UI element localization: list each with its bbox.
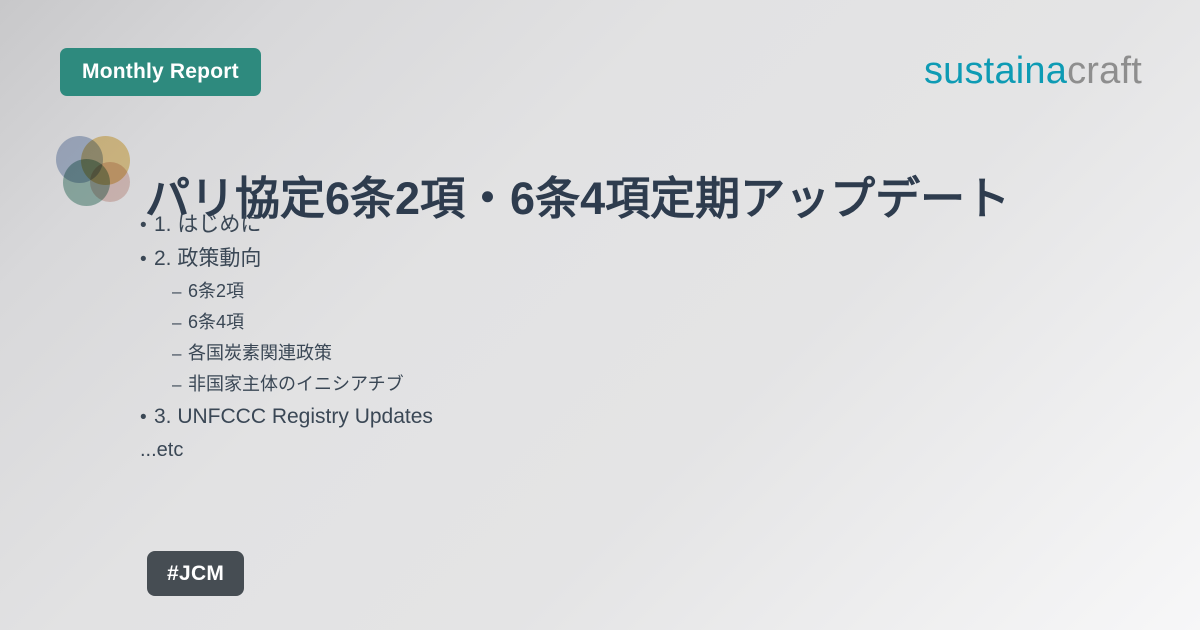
toc-item: •1. はじめに: [140, 208, 1040, 242]
toc-item-marker: •: [140, 243, 154, 276]
toc-item-label: 2. 政策動向: [154, 242, 261, 275]
toc-item: –非国家主体のイニシアチブ: [140, 369, 1040, 400]
toc-item-marker: •: [140, 209, 154, 242]
header-row: Monthly Report sustainacraft: [0, 0, 1200, 140]
toc-item-label: 非国家主体のイニシアチブ: [188, 369, 404, 400]
toc-item: •2. 政策動向: [140, 242, 1040, 276]
toc-item-label: 各国炭素関連政策: [188, 338, 332, 369]
toc-item: •3. UNFCCC Registry Updates: [140, 400, 1040, 434]
brand-name-secondary: craft: [1067, 50, 1142, 92]
circle-rose-icon: [90, 162, 130, 202]
three-overlapping-circles-icon: [56, 136, 130, 206]
toc-item-marker: –: [172, 338, 188, 369]
toc-item-label: ...etc: [140, 434, 183, 467]
table-of-contents: •1. はじめに•2. 政策動向–6条2項–6条4項–各国炭素関連政策–非国家主…: [140, 208, 1040, 467]
toc-item: –6条2項: [140, 276, 1040, 307]
hashtag-chip-label: #JCM: [167, 562, 224, 586]
toc-item-label: 6条2項: [188, 276, 244, 307]
hashtag-chip-jcm: #JCM: [147, 551, 244, 596]
toc-item: ...etc: [140, 434, 1040, 467]
monthly-report-badge-label: Monthly Report: [82, 60, 239, 84]
toc-item-label: 3. UNFCCC Registry Updates: [154, 400, 433, 433]
toc-item-label: 1. はじめに: [154, 208, 261, 241]
toc-item-marker: –: [172, 276, 188, 307]
report-cover-card: Monthly Report sustainacraft パリ協定6条2項・6条…: [0, 0, 1200, 630]
toc-item: –6条4項: [140, 307, 1040, 338]
toc-item-label: 6条4項: [188, 307, 244, 338]
sustainacraft-logo: sustainacraft: [924, 46, 1142, 96]
toc-item: –各国炭素関連政策: [140, 338, 1040, 369]
toc-item-marker: –: [172, 369, 188, 400]
toc-item-marker: –: [172, 307, 188, 338]
monthly-report-badge: Monthly Report: [60, 48, 261, 96]
toc-item-marker: •: [140, 401, 154, 434]
brand-name-primary: sustaina: [924, 50, 1067, 92]
